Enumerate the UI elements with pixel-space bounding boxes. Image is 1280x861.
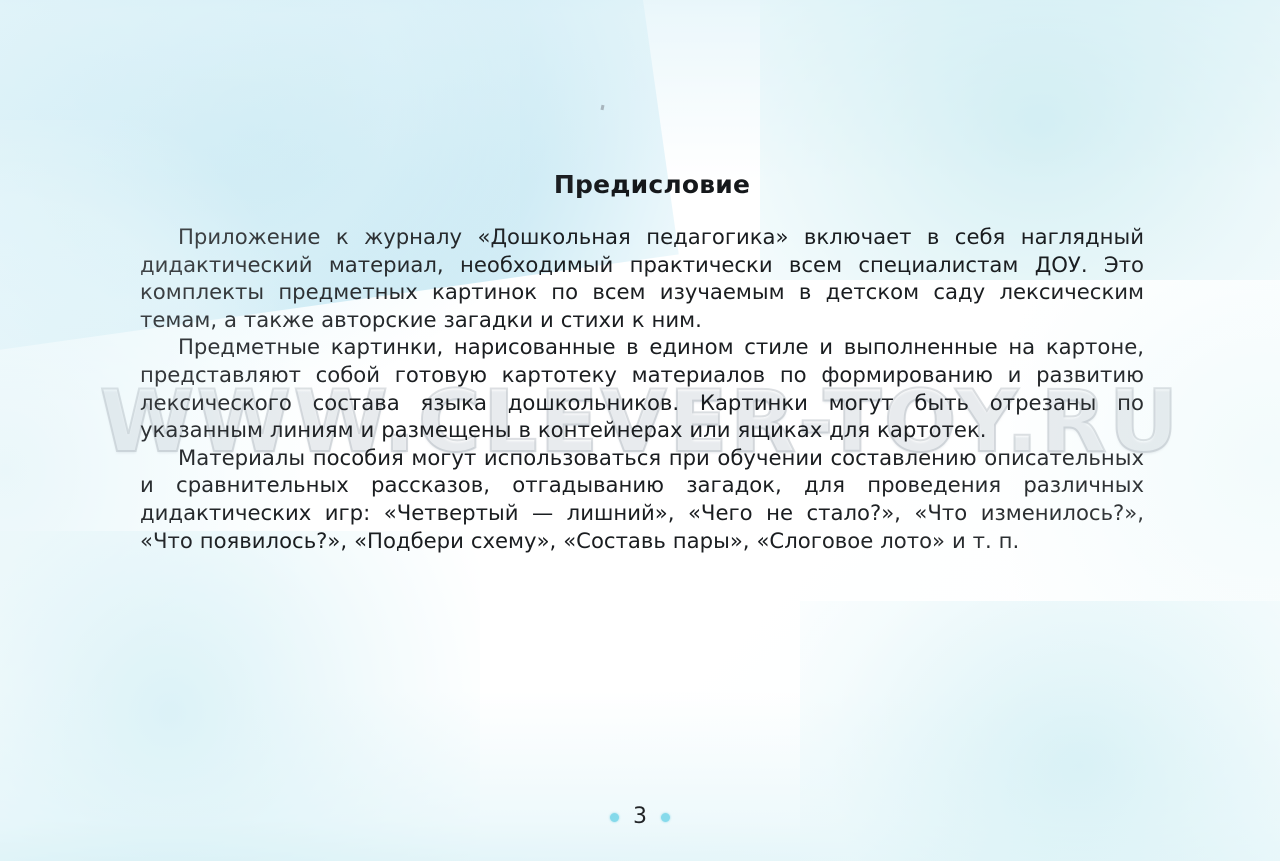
page-text-body: Предисловие Приложение к журналу «Дошкол…: [140, 170, 1144, 554]
background-wash-top-band: [0, 0, 1280, 180]
footer-dot-right-icon: [661, 813, 670, 822]
scanned-book-page: WWW.CLEVER-TOY.RU Предисловие Приложение…: [0, 0, 1280, 861]
page-number: 3: [633, 806, 647, 828]
paragraph-2: Предметные картинки, нарисованные в един…: [140, 333, 1144, 443]
scan-artifact-speck: [601, 105, 605, 111]
paragraph-1: Приложение к журналу «Дошкольная педагог…: [140, 223, 1144, 333]
background-wash-bottom-band: [0, 691, 1280, 861]
page-footer: 3: [0, 806, 1280, 828]
footer-dot-left-icon: [610, 813, 619, 822]
paragraph-3: Материалы пособия могут использоваться п…: [140, 444, 1144, 554]
page-title: Предисловие: [140, 170, 1144, 199]
